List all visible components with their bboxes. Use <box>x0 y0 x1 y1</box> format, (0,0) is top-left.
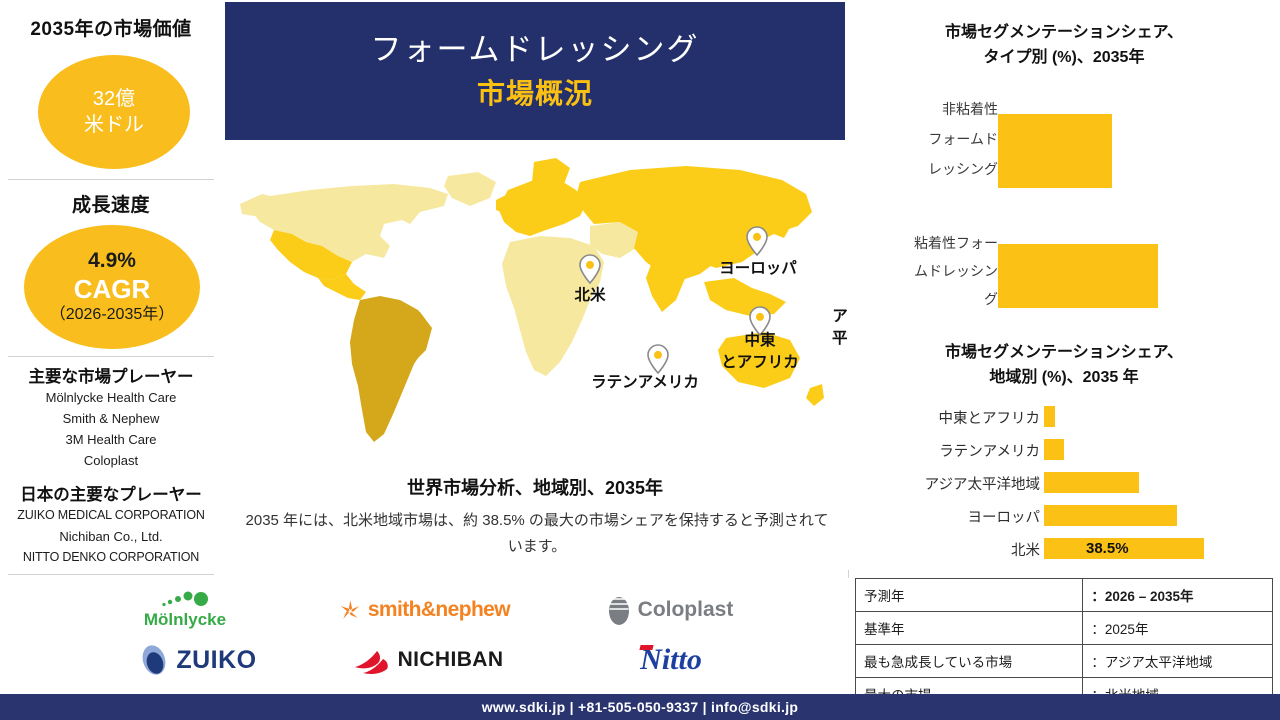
market-value-ellipse: 32億 米ドル <box>38 55 190 169</box>
japan-player-item: Nichiban Co., Ltd. <box>0 526 222 547</box>
type-chart-title-line1: 市場セグメンテーションシェア、 <box>848 20 1280 45</box>
nitto-accent-icon <box>639 645 653 650</box>
region-chart-title-line2: 地域別 (%)、2035 年 <box>848 365 1280 390</box>
world-map-svg <box>234 150 834 450</box>
growth-rate-cagr-label: CAGR <box>74 274 151 304</box>
japan-players-heading: 日本の主要なプレーヤー <box>0 481 222 505</box>
zuiko-wordmark: ZUIKO <box>176 646 256 675</box>
market-value-line1: 32億 <box>93 86 135 112</box>
partner-logos: Mölnlycke smith&nephew <box>0 578 848 694</box>
right-charts-panel: 市場セグメンテーションシェア、 タイプ別 (%)、2035年 非粘着性 フォーム… <box>848 0 1280 570</box>
map-label-middle-east-africa-line1: 中東 <box>710 330 810 352</box>
table-row: 予測年 ：2026 – 2035年 <box>856 579 1273 612</box>
nichiban-mark-icon <box>353 645 391 675</box>
map-region-europe <box>498 180 586 236</box>
summary-table: 予測年 ：2026 – 2035年 基準年 ：2025年 最も急成長している市場… <box>855 578 1273 711</box>
table-cell-value: ：2025年 <box>1083 612 1273 645</box>
japan-player-item: ZUIKO MEDICAL CORPORATION <box>0 505 222 526</box>
growth-rate-heading: 成長速度 <box>0 190 222 217</box>
table-cell-key: 最も急成長している市場 <box>856 645 1083 678</box>
region-bar-europe <box>1044 505 1177 526</box>
key-players-heading: 主要な市場プレーヤー <box>0 363 222 387</box>
table-row: 最も急成長している市場 ：アジア太平洋地域 <box>856 645 1273 678</box>
title-banner: フォームドレッシング 市場概況 <box>225 2 845 140</box>
left-divider-1 <box>8 179 214 180</box>
logo-coloplast: Coloplast <box>580 590 760 630</box>
type-bar-adhesive <box>998 244 1158 308</box>
map-pin-icon-north-america <box>579 254 601 284</box>
map-label-middle-east-africa-line2: とアフリカ <box>688 352 832 374</box>
type-category-0-line2: フォームド <box>858 124 998 154</box>
footer-contact-text: www.sdki.jp | +81-505-050-9337 | info@sd… <box>482 699 799 715</box>
table-cell-key: 予測年 <box>856 579 1083 612</box>
logo-smith-nephew: smith&nephew <box>340 592 510 628</box>
type-category-1-line2: ムドレッシン <box>848 256 998 286</box>
growth-rate-period: （2026-2035年） <box>50 304 175 326</box>
map-pin-icon-latin-america <box>647 344 669 374</box>
growth-rate-ellipse: 4.9% CAGR （2026-2035年） <box>24 225 200 349</box>
key-players-block: 主要な市場プレーヤー Mölnlycke Health Care Smith &… <box>0 363 222 471</box>
logo-nitto: Nitto <box>586 640 756 680</box>
smith-nephew-mark-icon <box>340 596 361 624</box>
region-bar-latam <box>1044 439 1064 460</box>
map-label-latin-america: ラテンアメリカ <box>540 372 750 394</box>
map-label-north-america: 北米 <box>547 285 633 307</box>
map-label-europe: ヨーロッパ <box>674 258 842 280</box>
zuiko-mark-icon <box>139 643 169 677</box>
region-bar-apac <box>1044 472 1139 493</box>
logo-zuiko: ZUIKO <box>118 640 278 680</box>
map-region-new-zealand <box>806 384 824 406</box>
growth-rate-block: 成長速度 <box>0 190 222 217</box>
molnlycke-wordmark: Mölnlycke <box>144 610 226 630</box>
table-row: 基準年 ：2025年 <box>856 612 1273 645</box>
type-category-0-line1: 非粘着性 <box>858 94 998 124</box>
region-value-na: 38.5% <box>1086 540 1129 557</box>
smith-nephew-wordmark: smith&nephew <box>368 598 510 622</box>
logo-molnlycke: Mölnlycke <box>120 586 250 634</box>
key-player-item: Smith & Nephew <box>0 408 222 429</box>
japan-player-item: NITTO DENKO CORPORATION <box>0 547 222 568</box>
table-cell-value: ：2026 – 2035年 <box>1083 579 1273 612</box>
left-summary-panel: 2035年の市場価値 32億 米ドル 成長速度 4.9% CAGR （2026-… <box>0 0 222 578</box>
page-subtitle: 市場概況 <box>477 73 593 115</box>
region-label-mea: 中東とアフリカ <box>864 407 1040 428</box>
map-caption-body: 2035 年には、北米地域市場は、約 38.5% の最大の市場シェアを保持すると… <box>244 508 830 560</box>
key-player-item: Mölnlycke Health Care <box>0 387 222 408</box>
type-category-1-line3: グ <box>848 284 998 314</box>
market-value-line2: 米ドル <box>84 112 144 138</box>
growth-rate-percent: 4.9% <box>88 248 136 274</box>
footer-bar: www.sdki.jp | +81-505-050-9337 | info@sd… <box>0 694 1280 720</box>
page-title: フォームドレッシング <box>370 27 699 73</box>
market-value-heading: 2035年の市場価値 <box>0 14 222 41</box>
type-category-0-line3: レッシング <box>858 154 998 184</box>
region-label-apac: アジア太平洋地域 <box>864 473 1040 494</box>
center-panel: フォームドレッシング 市場概況 <box>222 0 848 578</box>
region-label-na: 北米 <box>864 539 1040 560</box>
map-caption-title: 世界市場分析、地域別、2035年 <box>222 474 848 500</box>
region-label-europe: ヨーロッパ <box>864 506 1040 527</box>
region-label-latam: ラテンアメリカ <box>864 440 1040 461</box>
nichiban-wordmark: NICHIBAN <box>398 648 504 672</box>
japan-players-block: 日本の主要なプレーヤー ZUIKO MEDICAL CORPORATION Ni… <box>0 481 222 568</box>
world-map: 北米 ヨーロッパ 中東 とアフリカ アジア太 平洋地域 ラテンアメリカ <box>222 150 848 460</box>
coloplast-wordmark: Coloplast <box>638 598 734 622</box>
table-cell-value: ：アジア太平洋地域 <box>1083 645 1273 678</box>
market-value-block: 2035年の市場価値 <box>0 14 222 41</box>
map-region-brazil <box>380 308 432 372</box>
infographic-root: 2035年の市場価値 32億 米ドル 成長速度 4.9% CAGR （2026-… <box>0 0 1280 720</box>
coloplast-mark-icon <box>607 593 631 627</box>
type-category-1-line1: 粘着性フォー <box>848 228 998 258</box>
left-divider-3 <box>8 574 214 575</box>
map-pin-icon-europe <box>746 226 768 256</box>
region-chart-title-line1: 市場セグメンテーションシェア、 <box>848 340 1280 365</box>
key-player-item: 3M Health Care <box>0 429 222 450</box>
map-region-greenland <box>444 172 496 206</box>
type-bar-non-adhesive <box>998 114 1112 188</box>
molnlycke-mark-icon <box>157 591 213 608</box>
region-bar-mea <box>1044 406 1055 427</box>
left-divider-2 <box>8 356 214 357</box>
logo-nichiban: NICHIBAN <box>338 640 518 680</box>
key-player-item: Coloplast <box>0 450 222 471</box>
map-region-southeast-asia <box>704 278 786 316</box>
table-cell-key: 基準年 <box>856 612 1083 645</box>
type-chart-title-line2: タイプ別 (%)、2035年 <box>848 45 1280 70</box>
